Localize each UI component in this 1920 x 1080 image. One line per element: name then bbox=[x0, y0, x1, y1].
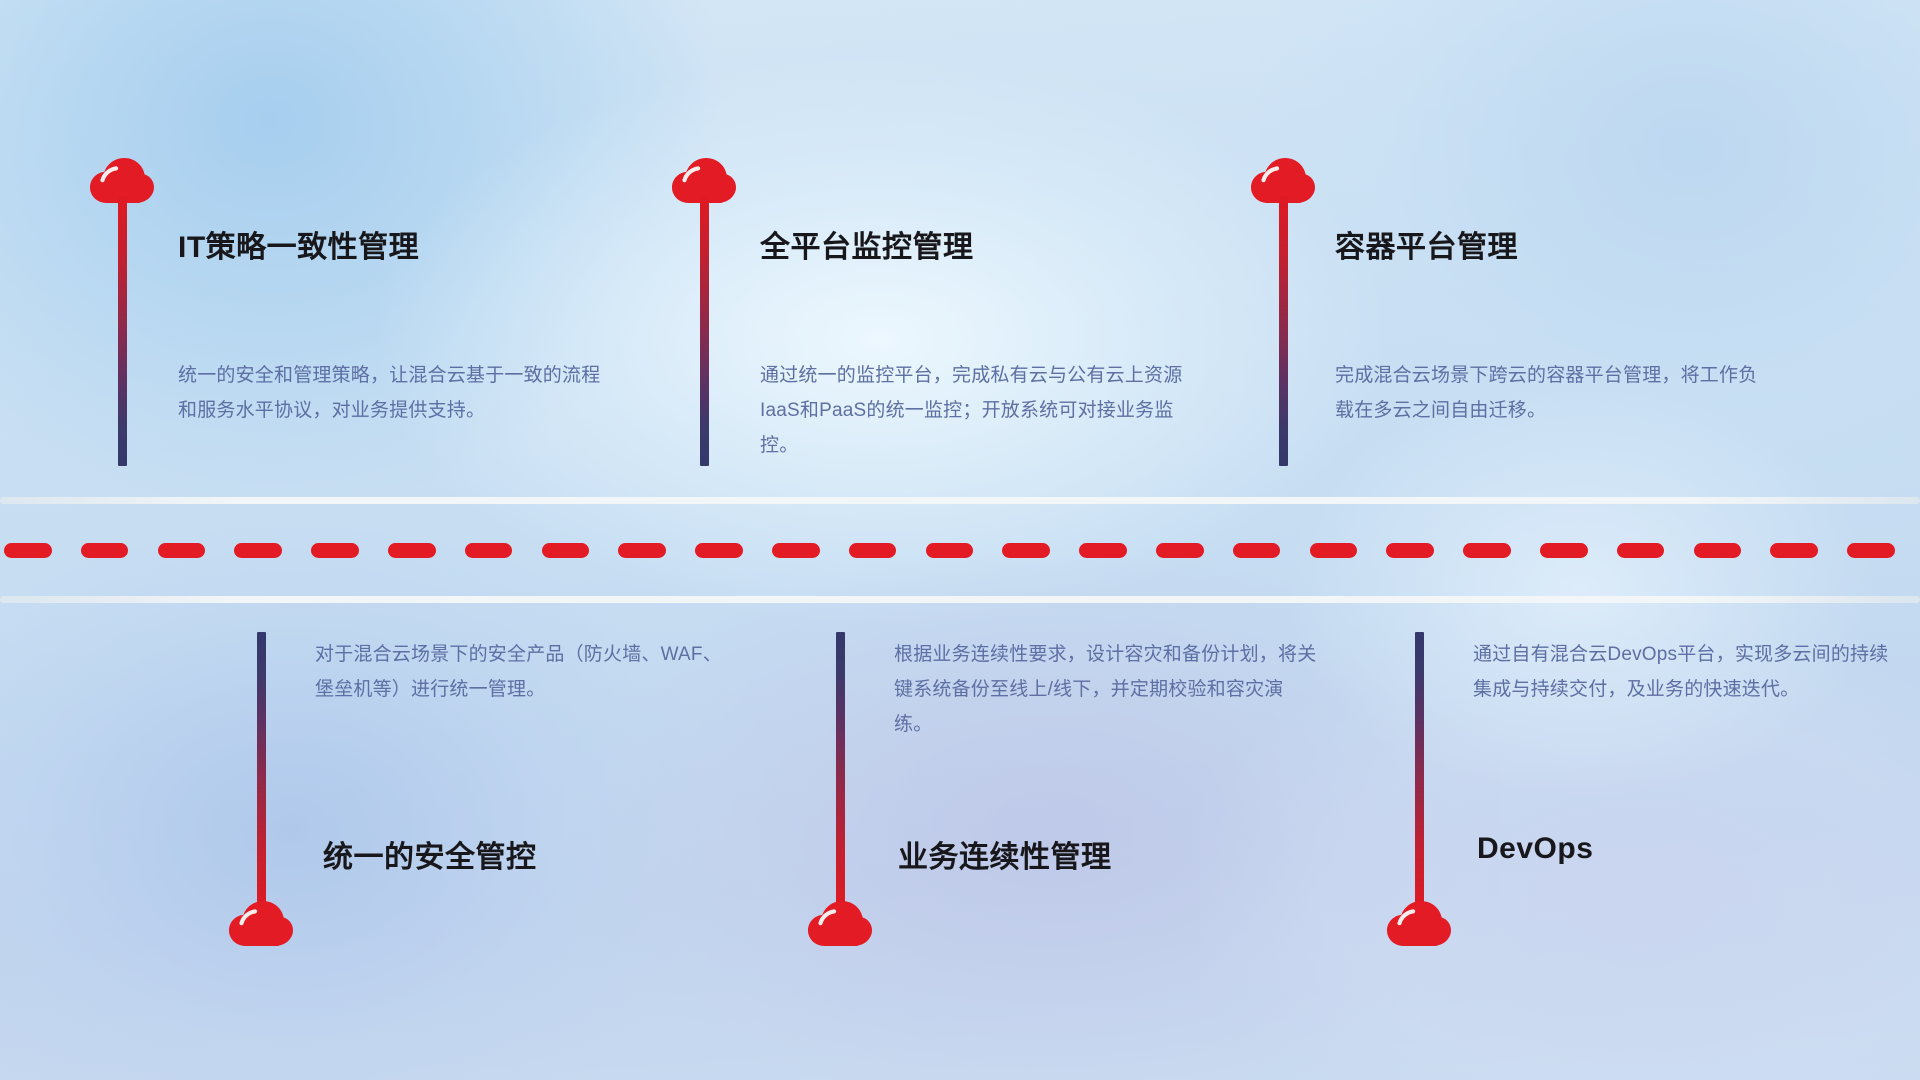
top-body-2: 通过统一的监控平台，完成私有云与公有云上资源IaaS和PaaS的统一监控；开放系… bbox=[760, 358, 1185, 463]
road-dash bbox=[4, 543, 52, 558]
road-dash bbox=[1079, 543, 1127, 558]
cloud-icon bbox=[229, 901, 293, 947]
top-body-1: 统一的安全和管理策略，让混合云基于一致的流程和服务水平协议，对业务提供支持。 bbox=[178, 358, 603, 428]
road-dash bbox=[772, 543, 820, 558]
road-dashes bbox=[0, 543, 1920, 559]
road-dash bbox=[926, 543, 974, 558]
bottom-body-2: 根据业务连续性要求，设计容灾和备份计划，将关键系统备份至线上/线下，并定期校验和… bbox=[894, 637, 1319, 742]
cloud-icon bbox=[808, 901, 872, 947]
road-dash bbox=[1156, 543, 1204, 558]
bottom-heading-1: 统一的安全管控 bbox=[323, 832, 537, 876]
road-dash bbox=[158, 543, 206, 558]
infographic-canvas: IT策略一致性管理 统一的安全和管理策略，让混合云基于一致的流程和服务水平协议，… bbox=[0, 0, 1920, 1080]
background-glow-middle-right bbox=[1280, 380, 1880, 800]
road-dash bbox=[618, 543, 666, 558]
top-heading-3: 容器平台管理 bbox=[1335, 222, 1518, 266]
road-dash bbox=[849, 543, 897, 558]
top-heading-1: IT策略一致性管理 bbox=[178, 222, 419, 266]
road-band-bottom bbox=[0, 596, 1920, 603]
road-dash bbox=[542, 543, 590, 558]
connector-stem bbox=[836, 632, 845, 912]
road-dash bbox=[1463, 543, 1511, 558]
road-dash bbox=[234, 543, 282, 558]
connector-stem bbox=[700, 196, 709, 466]
road-dash bbox=[1386, 543, 1434, 558]
road-dash bbox=[1233, 543, 1281, 558]
road-dash bbox=[1847, 543, 1895, 558]
background-glow-bottom-left bbox=[0, 520, 700, 1080]
road-dash bbox=[1694, 543, 1742, 558]
connector-stem bbox=[118, 196, 127, 466]
road-dash bbox=[1770, 543, 1818, 558]
road-dash bbox=[388, 543, 436, 558]
bottom-heading-3: DevOps bbox=[1477, 832, 1593, 866]
bottom-body-3: 通过自有混合云DevOps平台，实现多云间的持续集成与持续交付，及业务的快速迭代… bbox=[1473, 637, 1898, 707]
top-body-3: 完成混合云场景下跨云的容器平台管理，将工作负载在多云之间自由迁移。 bbox=[1335, 358, 1760, 428]
road-band-top bbox=[0, 497, 1920, 504]
road-dash bbox=[465, 543, 513, 558]
connector-stem bbox=[257, 632, 266, 912]
top-heading-2: 全平台监控管理 bbox=[760, 222, 974, 266]
road-dash bbox=[695, 543, 743, 558]
connector-stem bbox=[1279, 196, 1288, 466]
road-dash bbox=[1617, 543, 1665, 558]
road-dash bbox=[1002, 543, 1050, 558]
road-dash bbox=[311, 543, 359, 558]
bottom-body-1: 对于混合云场景下的安全产品（防火墙、WAF、堡垒机等）进行统一管理。 bbox=[315, 637, 740, 707]
road-dash bbox=[1540, 543, 1588, 558]
road-dash bbox=[1310, 543, 1358, 558]
connector-stem bbox=[1415, 632, 1424, 912]
road-dash bbox=[81, 543, 129, 558]
bottom-heading-2: 业务连续性管理 bbox=[898, 832, 1112, 876]
cloud-icon bbox=[1387, 901, 1451, 947]
